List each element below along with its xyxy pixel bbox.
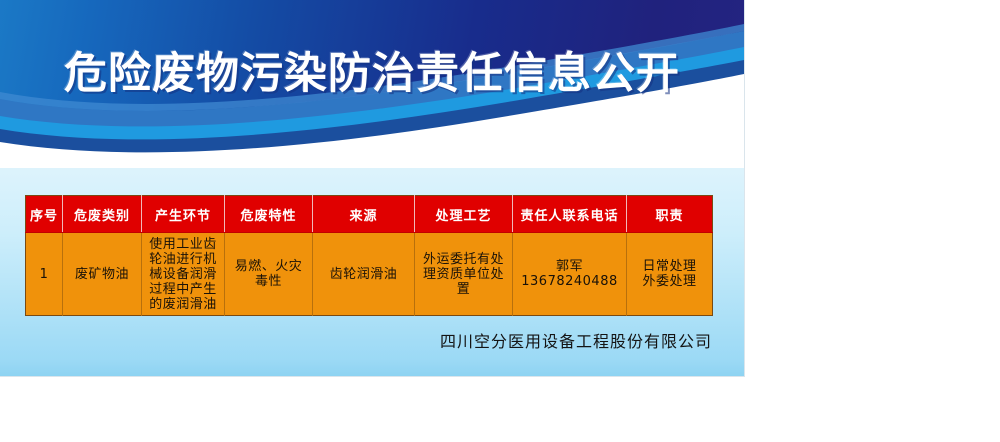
cell-source: 齿轮润滑油 xyxy=(313,233,415,316)
column-header-treatment: 处理工艺 xyxy=(415,196,513,233)
responsible-person-name: 郭军 xyxy=(517,259,622,274)
cell-responsible: 郭军 13678240488 xyxy=(513,233,627,316)
column-header-category: 危废类别 xyxy=(63,196,142,233)
cell-duty: 日常处理 外委处理 xyxy=(627,233,713,316)
column-header-source: 来源 xyxy=(313,196,415,233)
responsible-person-phone: 13678240488 xyxy=(517,274,622,289)
column-header-phone: 责任人联系电话 xyxy=(513,196,627,233)
column-header-stage: 产生环节 xyxy=(142,196,225,233)
duty-line-2: 外委处理 xyxy=(631,274,708,289)
cell-stage: 使用工业齿轮油进行机械设备润滑过程中产生的废润滑油 xyxy=(142,233,225,316)
column-header-property: 危废特性 xyxy=(225,196,313,233)
table-header-row: 序号 危废类别 产生环节 危废特性 来源 处理工艺 责任人联系电话 职责 xyxy=(26,196,713,233)
cell-property: 易燃、火灾毒性 xyxy=(225,233,313,316)
table-row: 1 废矿物油 使用工业齿轮油进行机械设备润滑过程中产生的废润滑油 易燃、火灾毒性… xyxy=(26,233,713,316)
poster-root: 危险废物污染防治责任信息公开 序号 危废类别 产生环节 危废特性 来源 处理工艺… xyxy=(0,0,744,376)
column-header-seq: 序号 xyxy=(26,196,63,233)
banner: 危险废物污染防治责任信息公开 xyxy=(0,0,744,168)
company-name: 四川空分医用设备工程股份有限公司 xyxy=(0,328,712,352)
cell-category: 废矿物油 xyxy=(63,233,142,316)
column-header-duty: 职责 xyxy=(627,196,713,233)
page-title: 危险废物污染防治责任信息公开 xyxy=(0,48,744,100)
duty-line-1: 日常处理 xyxy=(631,259,708,274)
hazardous-waste-table-wrapper: 序号 危废类别 产生环节 危废特性 来源 处理工艺 责任人联系电话 职责 1 废… xyxy=(25,195,712,316)
hazardous-waste-table: 序号 危废类别 产生环节 危废特性 来源 处理工艺 责任人联系电话 职责 1 废… xyxy=(25,195,713,316)
cell-treatment: 外运委托有处理资质单位处置 xyxy=(415,233,513,316)
cell-seq: 1 xyxy=(26,233,63,316)
